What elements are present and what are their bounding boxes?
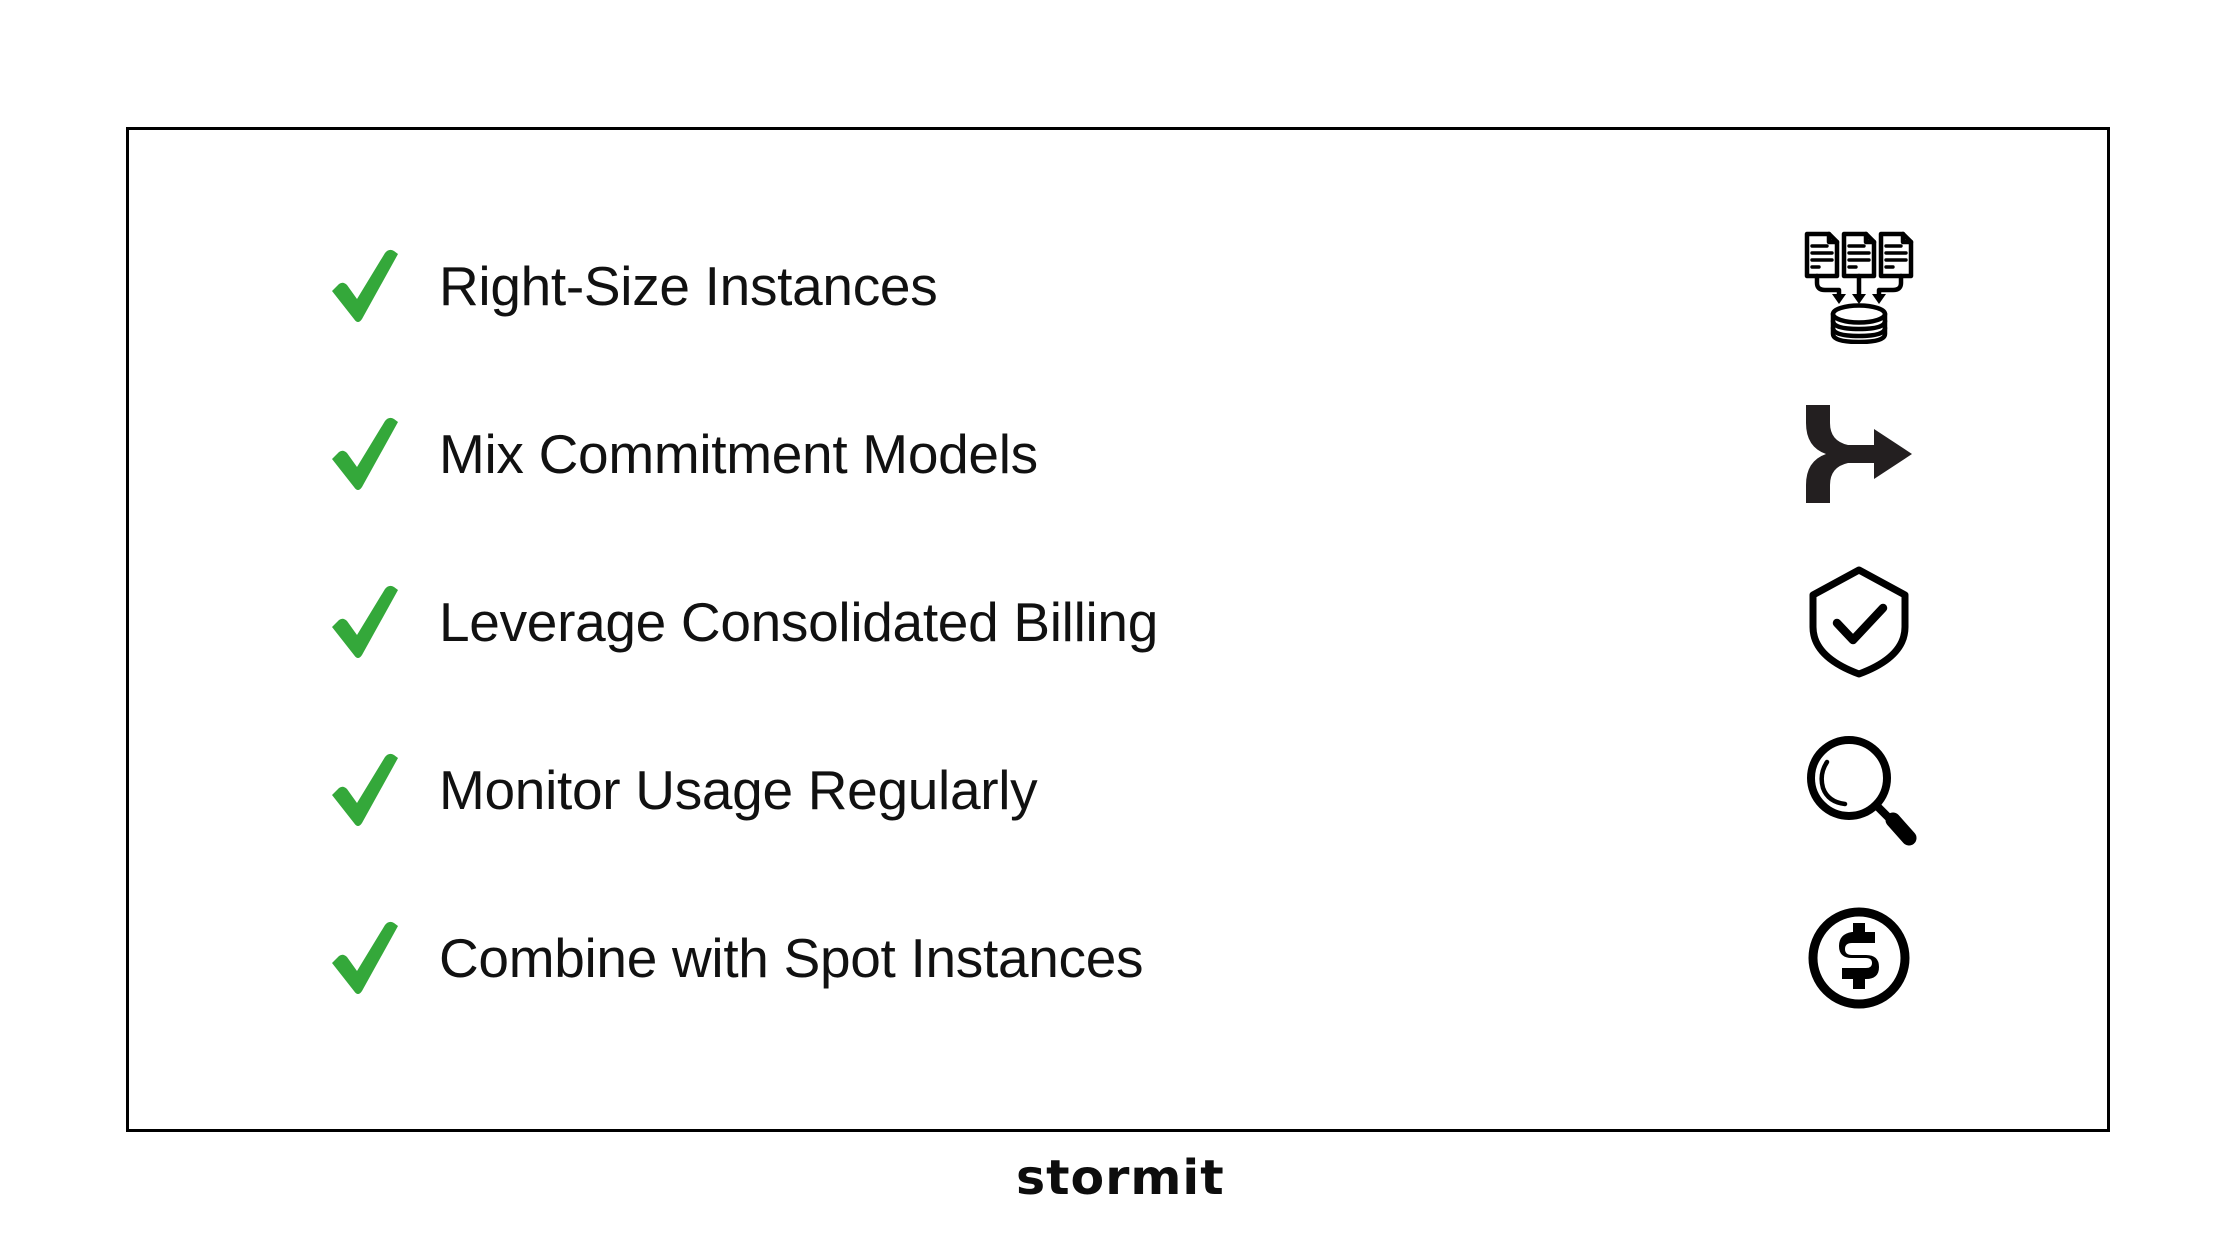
content-frame: Right-Size Instances [126,127,2110,1132]
checklist-item-label: Mix Commitment Models [439,427,1038,482]
checklist-item: Mix Commitment Models [129,394,2107,514]
checklist-item: Leverage Consolidated Billing [129,562,2107,682]
brand-name: stormit [1016,1150,1225,1206]
checklist-item-label: Leverage Consolidated Billing [439,595,1158,650]
checklist-item: Right-Size Instances [129,226,2107,346]
checklist-item-label: Monitor Usage Regularly [439,763,1037,818]
dollar-circle-icon [1759,898,1959,1018]
shield-check-icon [1759,562,1959,682]
documents-to-database-icon [1759,226,1959,346]
checklist-item-label: Right-Size Instances [439,259,937,314]
checklist-item-label: Combine with Spot Instances [439,931,1143,986]
green-checkmark-icon [325,898,405,1018]
checklist-item-label-cell: Mix Commitment Models [439,394,1038,514]
merge-arrow-icon [1759,394,1959,514]
checklist-item: Monitor Usage Regularly [129,730,2107,850]
green-checkmark-icon [325,394,405,514]
brand-logo: stormit [0,1150,2240,1206]
checklist-item-label-cell: Leverage Consolidated Billing [439,562,1158,682]
checklist: Right-Size Instances [129,130,2107,1129]
green-checkmark-icon [325,730,405,850]
checklist-item-label-cell: Combine with Spot Instances [439,898,1143,1018]
checklist-item-label-cell: Monitor Usage Regularly [439,730,1037,850]
magnifying-glass-icon [1759,730,1959,850]
green-checkmark-icon [325,226,405,346]
checklist-item-label-cell: Right-Size Instances [439,226,937,346]
green-checkmark-icon [325,562,405,682]
checklist-item: Combine with Spot Instances [129,898,2107,1018]
